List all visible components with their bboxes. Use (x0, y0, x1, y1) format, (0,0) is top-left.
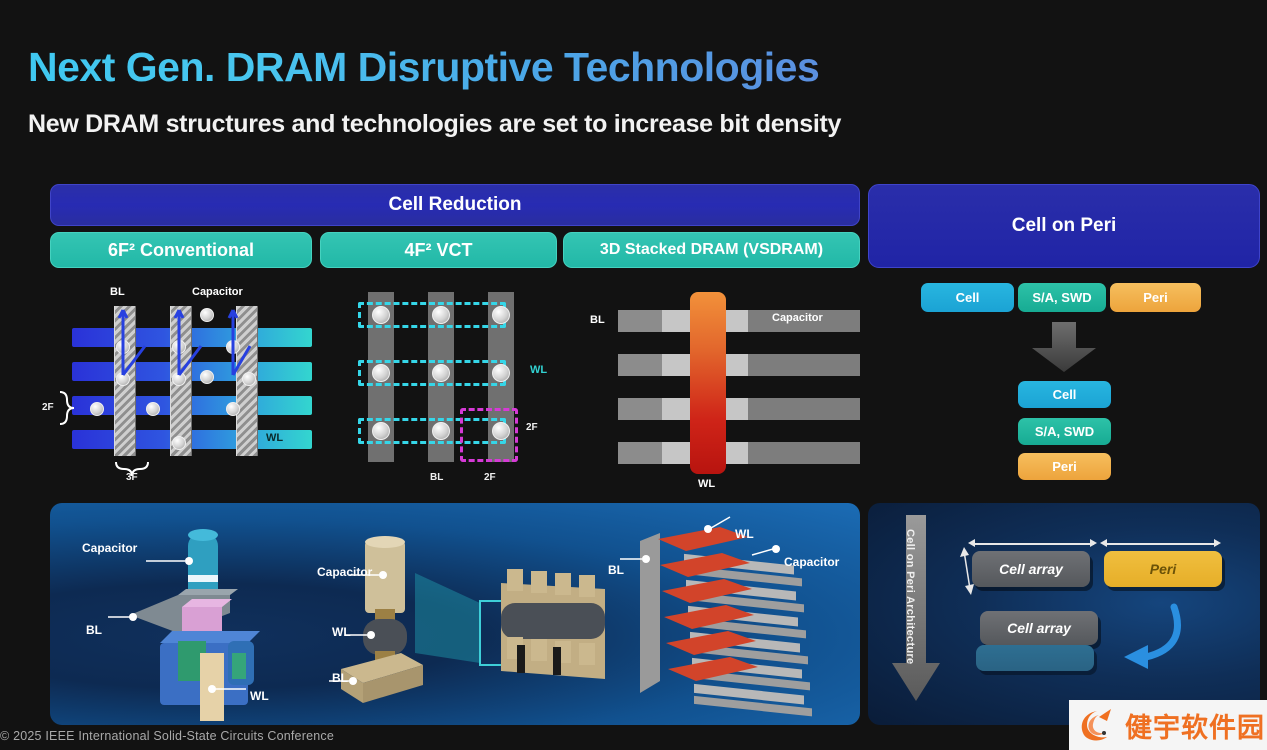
label-bl-cell3d-capacitor: Capacitor (784, 555, 839, 569)
header-cell-reduction: Cell Reduction (50, 184, 860, 226)
dimension-arrow-right-end (1214, 539, 1221, 547)
peri-stack-chip-cell[interactable]: Cell (1018, 381, 1111, 408)
label-4f2-2f-bottom: 2F (484, 472, 496, 483)
4f2-pitch-box (460, 408, 518, 462)
arch-block-peri[interactable]: Peri (1104, 551, 1222, 587)
label-3d-bl: BL (590, 314, 605, 326)
dimension-line-right (1106, 543, 1218, 545)
label-4f2-bl: BL (430, 472, 443, 483)
label-bl-cell6f2-capacitor: Capacitor (82, 541, 137, 555)
label-cell-on-peri-architecture: Cell on Peri Architecture (904, 529, 916, 664)
tech-chip-4f2[interactable]: 4F² VCT (320, 232, 557, 268)
bottom-right-panel: Cell on Peri Architecture Cell array Per… (868, 503, 1260, 725)
peri-row-chip-peri[interactable]: Peri (1110, 283, 1201, 312)
label-bl-cell6f2-wl: WL (250, 689, 269, 703)
label-bl-cell3d-wl: WL (735, 527, 754, 541)
dimension-arrow-left-end (1090, 539, 1097, 547)
label-3d-capacitor: Capacitor (772, 312, 823, 324)
down-arrow-icon (1028, 322, 1100, 374)
label-bl-cell4f2-capacitor: Capacitor (317, 565, 372, 579)
fox-logo-icon (1077, 705, 1119, 745)
label-6f2-wl: WL (266, 432, 283, 444)
arch-block-cell-array-bottom[interactable]: Cell array (980, 611, 1098, 645)
label-6f2-capacitor: Capacitor (192, 286, 243, 298)
diagram-6f2-conventional: BL Capacitor WL 2F 3F (50, 280, 312, 495)
header-cell-on-peri: Cell on Peri (868, 184, 1260, 268)
tech-chip-3d-stacked[interactable]: 3D Stacked DRAM (VSDRAM) (563, 232, 860, 268)
footer-copyright: © 2025 IEEE International Solid-State Ci… (0, 729, 334, 743)
peri-row-chip-sa-swd[interactable]: S/A, SWD (1018, 283, 1106, 312)
peri-row-chip-cell[interactable]: Cell (921, 283, 1014, 312)
arch-block-cell-array-top[interactable]: Cell array (972, 551, 1090, 587)
label-6f2-3f: 3F (126, 472, 138, 483)
page-title: Next Gen. DRAM Disruptive Technologies (28, 44, 819, 91)
bottom-left-panel: Capacitor BL WL Capacitor WL BL (50, 503, 860, 725)
architecture-down-arrow-icon (890, 515, 950, 715)
cell-structure-6f2 (60, 503, 340, 725)
label-bl-cell4f2-bl: BL (332, 671, 348, 685)
label-6f2-2f: 2F (42, 402, 54, 413)
label-bl-cell4f2-wl: WL (332, 625, 351, 639)
diagram-3d-stacked-dram: BL Capacitor WL (590, 280, 870, 495)
dimension-arrow-right-start (1100, 539, 1107, 547)
cell-structure-3d-stacked (580, 503, 870, 725)
arch-block-peri-underlay (976, 645, 1094, 671)
tech-chip-6f2[interactable]: 6F² Conventional (50, 232, 312, 268)
label-bl-cell6f2-bl: BL (86, 623, 102, 637)
label-6f2-bl: BL (110, 286, 125, 298)
cell-structure-4f2-vct (305, 503, 625, 725)
label-3d-wl: WL (698, 478, 715, 490)
watermark-logo: 健宇软件园 (1069, 700, 1267, 750)
curved-arrow-icon (1100, 603, 1190, 673)
peri-stack-chip-peri[interactable]: Peri (1018, 453, 1111, 480)
page-subtitle: New DRAM structures and technologies are… (28, 110, 841, 139)
dimension-line-left (974, 543, 1094, 545)
label-4f2-wl: WL (530, 364, 547, 376)
diagram-4f2-vct: WL 2F BL 2F (340, 280, 570, 495)
peri-stack-chip-sa-swd[interactable]: S/A, SWD (1018, 418, 1111, 445)
label-4f2-2f-right: 2F (526, 422, 538, 433)
watermark-text: 健宇软件园 (1125, 706, 1265, 745)
label-bl-cell3d-bl: BL (608, 563, 624, 577)
